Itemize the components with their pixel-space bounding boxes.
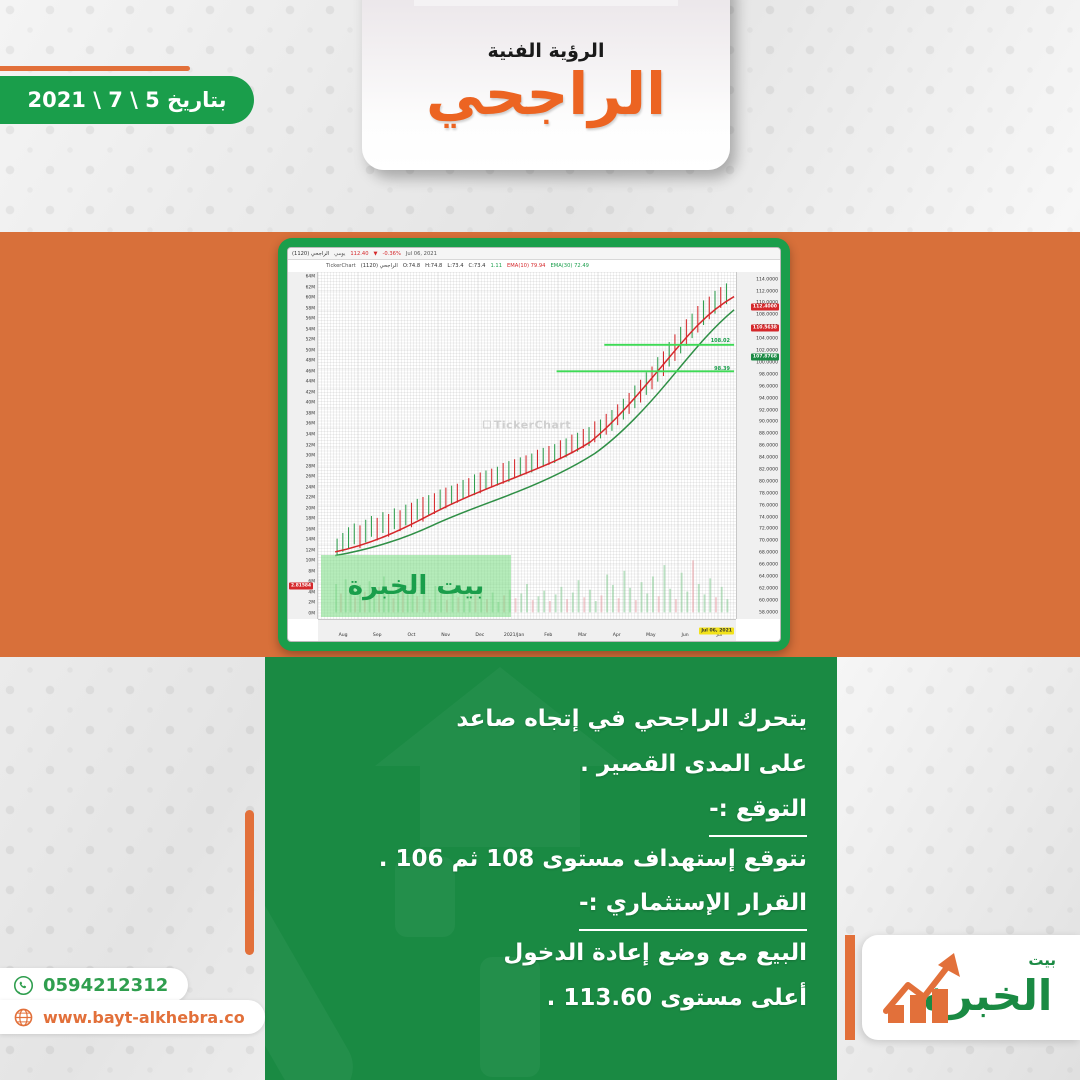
title-card-glass-strip — [414, 0, 678, 6]
price-axis-tick: 64.0000 — [759, 575, 778, 580]
chart-date-axis: AugSepOctNovDec2021/JanFebMarAprMayJunJu… — [318, 619, 736, 641]
date-axis-tick: Nov — [441, 633, 450, 638]
price-marker-badge: 110.5638 — [751, 324, 779, 331]
volume-axis-tick: 62M — [306, 285, 315, 290]
chart-symbol: الراجحي (1120) — [292, 251, 329, 257]
price-axis-tick: 76.0000 — [759, 503, 778, 508]
analysis-heading: التوقع :- — [305, 787, 807, 837]
chart-close: C:73.4 — [469, 263, 486, 269]
header-band: بتاريخ 5 \ 7 \ 2021 الرؤية الفنية الراجح… — [0, 0, 1080, 232]
volume-axis-tick: 60M — [306, 296, 315, 301]
support-label-upper: 108.02 — [711, 338, 730, 344]
date-accent-bar — [0, 66, 190, 71]
date-axis-tick: Dec — [475, 633, 484, 638]
page-subtitle: الرؤية الفنية — [362, 40, 730, 62]
price-axis-tick: 88.0000 — [759, 432, 778, 437]
whatsapp-icon — [13, 975, 34, 996]
chart-screenshot: الراجحي (1120) يومي 112.40 ▼ -0.36% Jul … — [287, 247, 781, 642]
price-axis-tick: 80.0000 — [759, 479, 778, 484]
chart-change-value: 1.11 — [490, 263, 502, 269]
chart-frame: الراجحي (1120) يومي 112.40 ▼ -0.36% Jul … — [278, 238, 790, 651]
date-axis-tick: May — [646, 633, 656, 638]
date-axis-tick: Feb — [544, 633, 552, 638]
volume-axis-tick: 14M — [306, 538, 315, 543]
date-axis-tick: Oct — [407, 633, 415, 638]
chart-ema30-label: EMA(30) 72.49 — [550, 263, 588, 269]
volume-axis-tick: 64M — [306, 275, 315, 280]
price-axis-tick: 90.0000 — [759, 420, 778, 425]
price-marker-badge: 112.4000 — [751, 303, 779, 310]
date-axis-tick: 2021/Jan — [504, 633, 524, 638]
volume-axis-tick: 30M — [306, 454, 315, 459]
price-axis-tick: 72.0000 — [759, 527, 778, 532]
contact-website-url: www.bayt-alkhebra.co — [43, 1008, 245, 1027]
chart-timeframe: يومي — [334, 251, 345, 257]
volume-axis-tick: 42M — [306, 390, 315, 395]
analysis-line: نتوقع إستهداف مستوى 108 ثم 106 . — [305, 837, 807, 882]
volume-axis-tick: 32M — [306, 443, 315, 448]
analysis-heading-text: القرار الإستثماري :- — [579, 881, 807, 931]
chart-low: L:73.4 — [447, 263, 463, 269]
logo-word-top: بيت — [1028, 951, 1056, 969]
volume-axis-tick: 28M — [306, 464, 315, 469]
volume-axis-tick: 2M — [308, 601, 315, 606]
chart-down-arrow-icon: ▼ — [374, 251, 378, 257]
price-axis-tick: 94.0000 — [759, 396, 778, 401]
contact-phone[interactable]: 0594212312 — [0, 968, 188, 1002]
price-axis-tick: 68.0000 — [759, 551, 778, 556]
date-axis-tick: Mar — [578, 633, 587, 638]
chart-high: H:74.8 — [425, 263, 442, 269]
price-marker-badge: 107.8768 — [751, 354, 779, 361]
date-axis-tick: Jun — [681, 633, 688, 638]
price-axis-tick: 82.0000 — [759, 467, 778, 472]
volume-axis-tick: 26M — [306, 475, 315, 480]
contact-phone-number: 0594212312 — [43, 975, 168, 996]
chart-price-axis: 114.0000112.0000110.0000108.0000106.0000… — [736, 272, 780, 619]
price-axis-tick: 78.0000 — [759, 491, 778, 496]
date-axis-tick: Aug — [339, 633, 348, 638]
volume-axis-tick: 56M — [306, 317, 315, 322]
price-axis-tick: 96.0000 — [759, 384, 778, 389]
date-marker-badge: Jul 06, 2021 — [699, 627, 734, 634]
price-axis-tick: 114.0000 — [756, 277, 778, 282]
analysis-text-block: يتحرك الراجحي في إتجاه صاعدعلى المدى الق… — [265, 657, 837, 1021]
price-axis-tick: 92.0000 — [759, 408, 778, 413]
price-axis-tick: 112.0000 — [756, 289, 778, 294]
page-title: الراجحي — [362, 60, 730, 128]
tickerchart-logo-icon — [483, 421, 491, 429]
analysis-line: البيع مع وضع إعادة الدخول — [305, 931, 807, 976]
volume-axis-tick: 22M — [306, 496, 315, 501]
volume-axis-tick: 58M — [306, 306, 315, 311]
price-axis-tick: 58.0000 — [759, 610, 778, 615]
contact-website[interactable]: www.bayt-alkhebra.co — [0, 1000, 265, 1034]
ema30-line — [335, 310, 734, 556]
chart-ema10-label: EMA(10) 79.94 — [507, 263, 545, 269]
chart-header-row-1: الراجحي (1120) يومي 112.40 ▼ -0.36% Jul … — [288, 248, 780, 260]
title-card: الرؤية الفنية الراجحي — [362, 0, 730, 170]
volume-axis-tick: 10M — [306, 559, 315, 564]
date-axis-tick: Apr — [613, 633, 621, 638]
chart-open: O:74.8 — [403, 263, 420, 269]
chart-date: Jul 06, 2021 — [406, 251, 437, 257]
chart-last-price: 112.40 — [350, 251, 368, 257]
orange-accent-strip — [245, 810, 254, 955]
price-axis-tick: 70.0000 — [759, 539, 778, 544]
analysis-line: أعلى مستوى 113.60 . — [305, 976, 807, 1021]
volume-axis-tick: 46M — [306, 369, 315, 374]
analysis-line: على المدى القصير . — [305, 742, 807, 787]
volume-axis-tick: 34M — [306, 432, 315, 437]
price-axis-tick: 100.0000 — [756, 360, 778, 365]
volume-axis-tick: 38M — [306, 411, 315, 416]
volume-axis-tick: 0M — [308, 611, 315, 616]
tickerchart-watermark: TickerChart — [483, 418, 571, 431]
price-axis-tick: 108.0000 — [756, 313, 778, 318]
chart-change-percent: -0.36% — [383, 251, 401, 257]
chart-provider: TickerChart — [326, 263, 356, 269]
analysis-heading-text: التوقع :- — [709, 787, 807, 837]
chart-volume-axis: 64M62M60M58M56M54M52M50M48M46M44M42M40M3… — [288, 272, 318, 619]
volume-axis-tick: 18M — [306, 517, 315, 522]
chart-symbol-ohlc: الراجحي (1120) — [361, 263, 398, 269]
volume-axis-tick: 36M — [306, 422, 315, 427]
volume-axis-tick: 48M — [306, 359, 315, 364]
volume-axis-tick: 50M — [306, 348, 315, 353]
volume-axis-tick: 24M — [306, 485, 315, 490]
brand-logo[interactable]: بيت الخبرة — [862, 935, 1080, 1040]
volume-axis-tick: 12M — [306, 548, 315, 553]
chart-header-row-2: TickerChart الراجحي (1120) O:74.8 H:74.8… — [288, 260, 780, 271]
volume-axis-tick: 16M — [306, 527, 315, 532]
growth-arrow-icon — [880, 945, 976, 1027]
analysis-line: يتحرك الراجحي في إتجاه صاعد — [305, 697, 807, 742]
date-badge: بتاريخ 5 \ 7 \ 2021 — [0, 76, 254, 124]
price-axis-tick: 104.0000 — [756, 337, 778, 342]
volume-axis-tick: 40M — [306, 401, 315, 406]
price-axis-tick: 98.0000 — [759, 372, 778, 377]
volume-axis-tick: 4M — [308, 590, 315, 595]
price-axis-tick: 74.0000 — [759, 515, 778, 520]
price-axis-tick: 86.0000 — [759, 444, 778, 449]
price-axis-tick: 84.0000 — [759, 456, 778, 461]
price-axis-tick: 60.0000 — [759, 598, 778, 603]
chart-plot-area: 108.02 98.39 TickerChart بيت الخبرة — [318, 272, 736, 619]
logo-accent-bar — [845, 935, 855, 1040]
globe-icon — [13, 1007, 34, 1028]
price-axis-tick: 62.0000 — [759, 586, 778, 591]
bayt-alkhebra-watermark: بيت الخبرة — [321, 555, 511, 617]
volume-axis-tick: 20M — [306, 506, 315, 511]
volume-marker-badge: 2.81584 — [289, 583, 313, 590]
volume-axis-tick: 44M — [306, 380, 315, 385]
volume-axis-tick: 54M — [306, 327, 315, 332]
tickerchart-watermark-text: TickerChart — [494, 418, 571, 431]
volume-axis-tick: 52M — [306, 338, 315, 343]
analysis-heading: القرار الإستثماري :- — [305, 881, 807, 931]
analysis-panel: يتحرك الراجحي في إتجاه صاعدعلى المدى الق… — [265, 657, 837, 1080]
price-axis-tick: 66.0000 — [759, 563, 778, 568]
volume-axis-tick: 8M — [308, 569, 315, 574]
date-axis-tick: Sep — [373, 633, 382, 638]
support-label-lower: 98.39 — [714, 366, 730, 372]
